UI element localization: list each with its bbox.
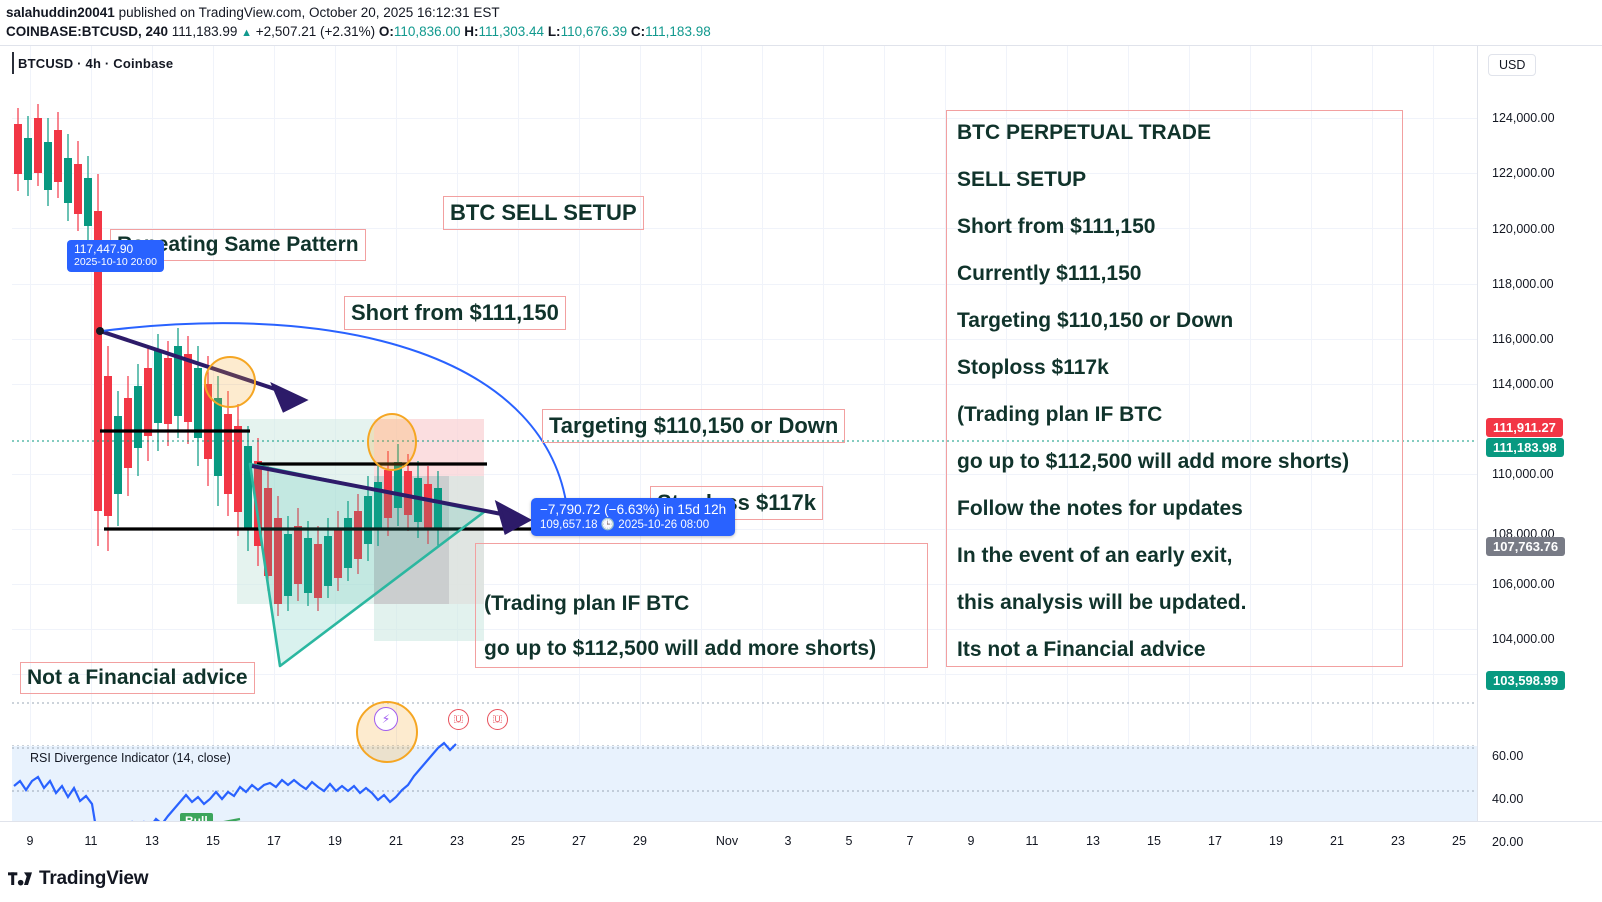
notes-line-5: Targeting $110,150 or Down: [957, 309, 1233, 333]
anchor-price-time: 2025-10-10 20:00: [74, 256, 157, 268]
clock-icon: 🕒: [601, 519, 615, 531]
publisher-line: salahuddin20041 published on TradingView…: [6, 5, 500, 20]
notes-line-3: Short from $111,150: [957, 215, 1155, 239]
price-change: +2,507.21 (+2.31%): [256, 24, 375, 39]
notes-line-1: BTC PERPETUAL TRADE: [957, 121, 1211, 145]
annotation-short-from[interactable]: Short from $111,150: [344, 296, 566, 330]
price-tick-104000: 104,000.00: [1492, 632, 1555, 646]
time-tick-8: 25: [511, 834, 525, 848]
time-tick-7: 23: [450, 834, 464, 848]
time-tick-21: 21: [1330, 834, 1344, 848]
measurement-target: 109,657.18 🕒 2025-10-26 08:00: [540, 517, 726, 531]
time-tick-19: 17: [1208, 834, 1222, 848]
time-tick-3: 15: [206, 834, 220, 848]
low-value: 110,676.39: [561, 24, 628, 39]
measurement-price: 109,657.18: [540, 519, 598, 531]
measurement-tooltip[interactable]: −7,790.72 (−6.63%) in 15d 12h 109,657.18…: [531, 498, 735, 536]
publisher-username: salahuddin20041: [6, 5, 115, 20]
notes-line-7: (Trading plan IF BTC: [957, 403, 1162, 427]
tradingview-branding: TradingView: [8, 868, 148, 890]
time-tick-16: 11: [1026, 834, 1039, 848]
notes-line-10: In the event of an early exit,: [957, 544, 1232, 568]
time-tick-18: 15: [1147, 834, 1161, 848]
time-tick-15: 9: [968, 834, 975, 848]
time-tick-14: 7: [907, 834, 914, 848]
tradingview-logo-icon: [8, 871, 32, 887]
open-value: 110,836.00: [394, 24, 461, 39]
last-price-tag: 111,183.98: [1486, 438, 1564, 457]
annotation-not-financial-advice[interactable]: Not a Financial advice: [20, 662, 255, 694]
chart-area[interactable]: BTCUSD · 4h · Coinbase RSI Divergence In…: [0, 45, 1602, 865]
publisher-header: salahuddin20041 published on TradingView…: [0, 0, 1602, 45]
anchor-price-value: 117,447.90: [74, 243, 157, 256]
rsi-bull-divergence-label: Bull: [180, 813, 213, 821]
economic-event-flag-icon-1[interactable]: 🇺: [448, 709, 469, 730]
time-tick-4: 17: [267, 834, 281, 848]
time-tick-2: 13: [145, 834, 159, 848]
notes-panel[interactable]: BTC PERPETUAL TRADE SELL SETUP Short fro…: [946, 110, 1403, 667]
time-axis[interactable]: 9 11 13 15 17 19 21 23 25 27 29 Nov 3 5 …: [0, 821, 1602, 866]
time-tick-0: 9: [27, 834, 34, 848]
price-tick-118000: 118,000.00: [1492, 277, 1554, 291]
anchor-price-tooltip[interactable]: 117,447.90 2025-10-10 20:00: [67, 240, 164, 272]
drawing-price-tag-1: 107,763.76: [1486, 537, 1565, 556]
notes-line-12: Its not a Financial advice: [957, 638, 1206, 662]
annotation-trading-plan-box[interactable]: (Trading plan IF BTC go up to $112,500 w…: [475, 543, 928, 668]
time-tick-13: 5: [846, 834, 853, 848]
time-tick-23: 25: [1452, 834, 1466, 848]
high-value: 111,303.44: [478, 24, 544, 39]
notes-line-8: go up to $112,500 will add more shorts): [957, 450, 1349, 474]
open-label: O:: [379, 24, 394, 39]
time-tick-9: 27: [572, 834, 586, 848]
pattern-highlight-circle-2: [367, 413, 417, 471]
price-tick-114000: 114,000.00: [1492, 377, 1554, 391]
price-tick-116000: 116,000.00: [1492, 332, 1554, 346]
annotation-trading-plan-line2: go up to $112,500 will add more shorts): [484, 637, 876, 661]
annotation-targeting[interactable]: Targeting $110,150 or Down: [542, 409, 845, 443]
symbol-quote-line: COINBASE:BTCUSD, 240 111,183.99 ▲ +2,507…: [6, 24, 711, 39]
notes-line-2: SELL SETUP: [957, 168, 1086, 192]
time-tick-12: 3: [785, 834, 792, 848]
time-tick-11: Nov: [716, 834, 738, 848]
time-tick-20: 19: [1269, 834, 1283, 848]
time-tick-10: 29: [633, 834, 647, 848]
low-label: L:: [548, 24, 561, 39]
high-label: H:: [464, 24, 478, 39]
pattern-highlight-circle-1: [204, 356, 256, 408]
rsi-tick-60: 60.00: [1492, 749, 1523, 763]
annotation-sell-setup[interactable]: BTC SELL SETUP: [443, 196, 644, 230]
time-tick-5: 19: [328, 834, 342, 848]
last-price: 111,183.99: [172, 24, 238, 39]
price-tick-122000: 122,000.00: [1492, 166, 1555, 180]
time-tick-6: 21: [389, 834, 403, 848]
publisher-published-text: published on TradingView.com, October 20…: [119, 5, 500, 20]
notes-line-4: Currently $111,150: [957, 262, 1141, 286]
measurement-time: 2025-10-26 08:00: [618, 519, 709, 531]
price-axis[interactable]: USD 124,000.00 122,000.00 120,000.00 118…: [1477, 46, 1602, 821]
time-tick-22: 23: [1391, 834, 1405, 848]
rsi-tick-40: 40.00: [1492, 792, 1523, 806]
annotation-trading-plan-line1: (Trading plan IF BTC: [484, 592, 689, 616]
ask-price-tag: 111,911.27: [1486, 418, 1563, 437]
close-value: 111,183.98: [645, 24, 711, 39]
chart-legend[interactable]: BTCUSD · 4h · Coinbase: [18, 56, 173, 71]
time-tick-1: 11: [85, 834, 98, 848]
price-tick-124000: 124,000.00: [1492, 111, 1555, 125]
price-tick-120000: 120,000.00: [1492, 222, 1555, 236]
notes-line-6: Stoploss $117k: [957, 356, 1109, 380]
rsi-indicator-title[interactable]: RSI Divergence Indicator (14, close): [30, 751, 231, 765]
currency-chip[interactable]: USD: [1488, 54, 1536, 76]
legend-accent-bar: [12, 52, 14, 74]
tradingview-wordmark: TradingView: [39, 868, 148, 890]
price-tick-106000: 106,000.00: [1492, 577, 1555, 591]
tradingview-chart-screenshot: salahuddin20041 published on TradingView…: [0, 0, 1602, 902]
symbol-ticker: COINBASE:BTCUSD, 240: [6, 24, 168, 39]
economic-event-flag-icon-2[interactable]: 🇺: [487, 709, 508, 730]
price-tick-110000: 110,000.00: [1492, 467, 1554, 481]
measurement-delta: −7,790.72 (−6.63%) in 15d 12h: [540, 502, 726, 517]
notes-line-9: Follow the notes for updates: [957, 497, 1243, 521]
close-label: C:: [631, 24, 645, 39]
time-tick-17: 13: [1086, 834, 1100, 848]
lightning-bolt-icon[interactable]: ⚡: [374, 707, 398, 731]
notes-line-11: this analysis will be updated.: [957, 591, 1246, 615]
drawing-price-tag-2: 103,598.99: [1486, 671, 1565, 690]
up-triangle-icon: ▲: [241, 27, 252, 39]
